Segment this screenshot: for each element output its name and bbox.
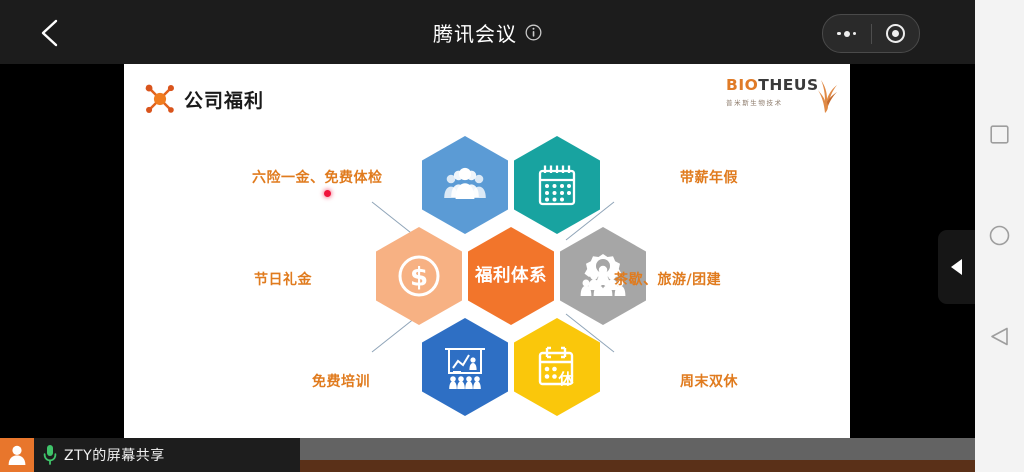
miniprogram-navbar: 腾讯会议 — [0, 0, 975, 64]
wechat-capsule-menu[interactable] — [822, 14, 920, 53]
orange-molecule-node-icon — [141, 80, 179, 118]
hex-cell-annual-leave[interactable] — [514, 136, 600, 234]
presentation-board-icon — [442, 344, 488, 390]
antler-brand-icon — [812, 76, 838, 114]
label-team-building: 茶歇、旅游/团建 — [614, 269, 721, 289]
dollar-coin-icon: $ — [395, 252, 443, 300]
square-recents-icon — [990, 125, 1009, 144]
hex-cell-gift-money[interactable]: $ — [376, 227, 462, 325]
hex-cell-training[interactable] — [422, 318, 508, 416]
svg-text:休: 休 — [557, 370, 574, 388]
label-gift-money: 节日礼金 — [254, 269, 312, 289]
benefits-honeycomb-diagram: $ 福利体系 — [124, 114, 850, 438]
android-navigation-bar — [975, 0, 1024, 472]
triangle-left-icon — [950, 258, 964, 276]
circle-home-icon — [989, 225, 1010, 246]
people-group-icon — [442, 166, 488, 204]
page-title: 腾讯会议 — [433, 18, 517, 47]
center-label: 福利体系 — [475, 266, 547, 286]
brand-name-first: BIO — [726, 76, 758, 94]
home-button[interactable] — [975, 211, 1024, 260]
calendar-rest-icon: 休 — [534, 344, 580, 390]
person-avatar-icon — [7, 444, 27, 466]
drawer-toggle-handle[interactable] — [938, 230, 975, 304]
microphone-icon[interactable] — [42, 444, 58, 465]
label-weekend: 周末双休 — [680, 371, 738, 391]
label-annual-leave: 带薪年假 — [680, 167, 738, 187]
hex-cell-weekend[interactable]: 休 — [514, 318, 600, 416]
shared-slide[interactable]: 公司福利 BIOTHEUS 普米斯生物技术 — [124, 64, 850, 438]
hex-cell-center[interactable]: 福利体系 — [468, 227, 554, 325]
slide-title: 公司福利 — [184, 86, 264, 113]
info-circle-icon[interactable] — [525, 24, 542, 41]
phone-screen: 腾讯会议 — [0, 0, 1024, 472]
brand-name-rest: THEUS — [758, 76, 818, 94]
screen-share-stage: 公司福利 BIOTHEUS 普米斯生物技术 — [0, 64, 975, 438]
recents-button[interactable] — [975, 110, 1024, 159]
company-logo: BIOTHEUS 普米斯生物技术 — [726, 78, 834, 116]
avatar[interactable] — [0, 438, 34, 472]
hex-cell-insurance[interactable] — [422, 136, 508, 234]
target-circle-icon[interactable] — [872, 15, 920, 52]
laser-pointer-dot — [324, 190, 331, 197]
label-training: 免费培训 — [312, 371, 370, 391]
svg-text:$: $ — [410, 263, 428, 293]
triangle-back-icon — [989, 326, 1010, 347]
screen-share-label: ZTY的屏幕共享 — [64, 445, 165, 465]
back-button[interactable] — [975, 312, 1024, 361]
calendar-icon — [536, 163, 578, 207]
label-insurance: 六险一金、免费体检 — [252, 167, 383, 187]
more-dots-icon[interactable] — [823, 15, 871, 52]
